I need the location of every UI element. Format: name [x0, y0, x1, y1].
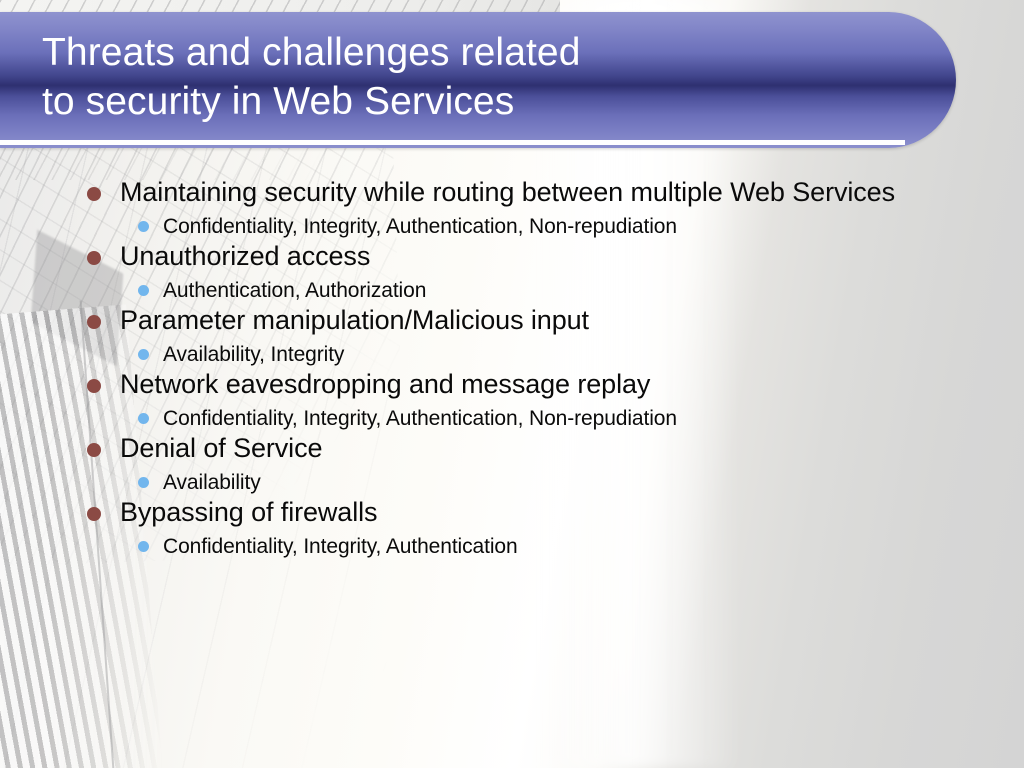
bullet-level2-marker-icon	[138, 541, 149, 552]
bullet-level1: Bypassing of firewalls	[0, 496, 1024, 529]
bullet-level2-text: Confidentiality, Integrity, Authenticati…	[163, 407, 677, 430]
slide-content-body: Maintaining security while routing betwe…	[0, 176, 1024, 560]
bullet-level1: Network eavesdropping and message replay	[0, 368, 1024, 401]
bullet-level1-marker-icon	[87, 315, 101, 329]
bullet-group: Denial of Service Availability	[0, 432, 1024, 496]
bullet-level1-marker-icon	[87, 443, 101, 457]
slide-title-banner: Threats and challenges related to securi…	[0, 12, 956, 148]
bullet-level2-marker-icon	[138, 285, 149, 296]
bullet-level2-marker-icon	[138, 477, 149, 488]
bullet-level1: Parameter manipulation/Malicious input	[0, 304, 1024, 337]
bullet-level2: Confidentiality, Integrity, Authenticati…	[0, 213, 1024, 240]
bullet-level1-text: Maintaining security while routing betwe…	[120, 177, 895, 207]
bullet-level1-marker-icon	[87, 507, 101, 521]
bullet-group: Unauthorized access Authentication, Auth…	[0, 240, 1024, 304]
bullet-level1-marker-icon	[87, 187, 101, 201]
bullet-level1-text: Denial of Service	[120, 433, 322, 463]
bullet-level2: Confidentiality, Integrity, Authenticati…	[0, 405, 1024, 432]
bullet-level2-marker-icon	[138, 349, 149, 360]
bullet-group: Maintaining security while routing betwe…	[0, 176, 1024, 240]
bullet-level1-text: Parameter manipulation/Malicious input	[120, 305, 589, 335]
bullet-level2: Confidentiality, Integrity, Authenticati…	[0, 533, 1024, 560]
bullet-level1-text: Unauthorized access	[120, 241, 370, 271]
bullet-group: Network eavesdropping and message replay…	[0, 368, 1024, 432]
slide-title: Threats and challenges related to securi…	[42, 28, 892, 126]
bullet-level1-marker-icon	[87, 251, 101, 265]
presentation-slide: Threats and challenges related to securi…	[0, 0, 1024, 768]
bullet-level2-text: Confidentiality, Integrity, Authenticati…	[163, 535, 518, 558]
bullet-level2-marker-icon	[138, 413, 149, 424]
bullet-level1-marker-icon	[87, 379, 101, 393]
bullet-level2: Availability, Integrity	[0, 341, 1024, 368]
bullet-level2: Authentication, Authorization	[0, 277, 1024, 304]
bullet-level2-marker-icon	[138, 221, 149, 232]
bullet-level2-text: Confidentiality, Integrity, Authenticati…	[163, 215, 677, 238]
bullet-level1: Maintaining security while routing betwe…	[0, 176, 1024, 209]
bullet-level2-text: Availability	[163, 471, 261, 494]
bullet-level1: Unauthorized access	[0, 240, 1024, 273]
bullet-level1-text: Bypassing of firewalls	[120, 497, 377, 527]
bullet-level2-text: Authentication, Authorization	[163, 279, 426, 302]
bullet-group: Parameter manipulation/Malicious input A…	[0, 304, 1024, 368]
bullet-group: Bypassing of firewalls Confidentiality, …	[0, 496, 1024, 560]
bullet-level1-text: Network eavesdropping and message replay	[120, 369, 650, 399]
title-underline-rule	[0, 140, 905, 145]
bullet-level1: Denial of Service	[0, 432, 1024, 465]
bullet-level2-text: Availability, Integrity	[163, 343, 344, 366]
bullet-level2: Availability	[0, 469, 1024, 496]
